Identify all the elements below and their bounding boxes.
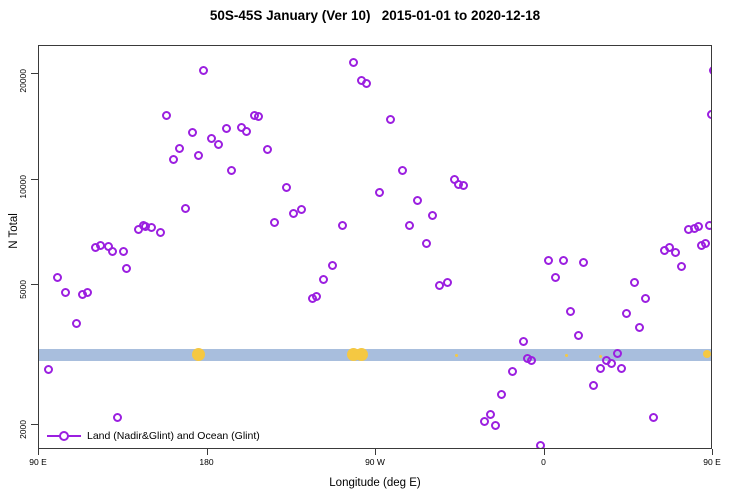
data-point bbox=[270, 218, 279, 227]
x-tick-mark bbox=[712, 449, 713, 455]
y-tick-mark bbox=[31, 284, 38, 285]
data-point bbox=[630, 278, 639, 287]
data-point bbox=[544, 256, 553, 265]
data-point bbox=[53, 273, 62, 282]
y-tick-mark bbox=[31, 179, 38, 180]
data-point bbox=[242, 127, 251, 136]
data-point bbox=[44, 365, 53, 374]
x-tick-mark bbox=[207, 449, 208, 455]
data-point bbox=[108, 247, 117, 256]
data-point bbox=[694, 222, 703, 231]
x-axis-label: Longitude (deg E) bbox=[0, 477, 750, 489]
data-point bbox=[559, 256, 568, 265]
data-point bbox=[169, 155, 178, 164]
data-point bbox=[349, 58, 358, 67]
plot-area: Land (Nadir&Glint) and Ocean (Glint) bbox=[38, 45, 712, 449]
data-point bbox=[519, 337, 528, 346]
y-tick-mark bbox=[31, 424, 38, 425]
data-point bbox=[72, 319, 81, 328]
band-marker bbox=[192, 348, 205, 361]
data-point bbox=[635, 323, 644, 332]
data-point bbox=[607, 359, 616, 368]
data-point bbox=[194, 151, 203, 160]
data-point bbox=[677, 262, 686, 271]
data-point bbox=[214, 140, 223, 149]
data-point bbox=[428, 211, 437, 220]
data-point bbox=[491, 421, 500, 430]
y-axis-label: N Total bbox=[8, 191, 20, 271]
data-point bbox=[338, 221, 347, 230]
scatter-chart-figure: 50S-45S January (Ver 10) 2015-01-01 to 2… bbox=[0, 0, 750, 500]
data-point bbox=[579, 258, 588, 267]
data-point bbox=[497, 390, 506, 399]
data-point bbox=[119, 247, 128, 256]
data-point bbox=[61, 288, 70, 297]
x-tick-label: 90 W bbox=[365, 457, 385, 467]
data-point bbox=[707, 110, 712, 119]
data-point bbox=[641, 294, 650, 303]
data-point bbox=[386, 115, 395, 124]
data-point bbox=[122, 264, 131, 273]
band-marker bbox=[355, 348, 368, 361]
data-point bbox=[671, 248, 680, 257]
data-point bbox=[405, 221, 414, 230]
data-point bbox=[328, 261, 337, 270]
y-tick-mark bbox=[31, 73, 38, 74]
data-point bbox=[199, 66, 208, 75]
x-tick-mark bbox=[38, 449, 39, 455]
data-point bbox=[254, 112, 263, 121]
legend-label: Land (Nadir&Glint) and Ocean (Glint) bbox=[87, 430, 260, 442]
data-point bbox=[574, 331, 583, 340]
x-tick-label: 90 E bbox=[29, 457, 47, 467]
data-point bbox=[443, 278, 452, 287]
data-point bbox=[113, 413, 122, 422]
data-point bbox=[297, 205, 306, 214]
data-point bbox=[162, 111, 171, 120]
data-point bbox=[181, 204, 190, 213]
data-point bbox=[188, 128, 197, 137]
data-point bbox=[589, 381, 598, 390]
data-point bbox=[617, 364, 626, 373]
data-point bbox=[622, 309, 631, 318]
data-point bbox=[413, 196, 422, 205]
data-point bbox=[596, 364, 605, 373]
data-point bbox=[422, 239, 431, 248]
data-point bbox=[312, 292, 321, 301]
data-point bbox=[551, 273, 560, 282]
legend: Land (Nadir&Glint) and Ocean (Glint) bbox=[47, 430, 260, 442]
data-point bbox=[649, 413, 658, 422]
data-point bbox=[319, 275, 328, 284]
data-point bbox=[362, 79, 371, 88]
data-point bbox=[508, 367, 517, 376]
data-point bbox=[227, 166, 236, 175]
band-marker bbox=[455, 354, 458, 357]
data-point bbox=[459, 181, 468, 190]
data-point bbox=[527, 356, 536, 365]
x-tick-label: 90 E bbox=[703, 457, 721, 467]
x-tick-mark bbox=[375, 449, 376, 455]
data-point bbox=[263, 145, 272, 154]
legend-marker-icon bbox=[47, 430, 81, 442]
data-point bbox=[566, 307, 575, 316]
data-point bbox=[282, 183, 291, 192]
data-point bbox=[709, 66, 713, 75]
data-point bbox=[486, 410, 495, 419]
data-point bbox=[375, 188, 384, 197]
data-point bbox=[398, 166, 407, 175]
data-point bbox=[156, 228, 165, 237]
data-point bbox=[83, 288, 92, 297]
chart-title: 50S-45S January (Ver 10) 2015-01-01 to 2… bbox=[0, 8, 750, 23]
x-tick-mark bbox=[544, 449, 545, 455]
data-point bbox=[175, 144, 184, 153]
data-point bbox=[222, 124, 231, 133]
x-tick-label: 0 bbox=[541, 457, 546, 467]
data-point bbox=[701, 239, 710, 248]
data-point bbox=[147, 223, 156, 232]
data-point bbox=[536, 441, 545, 449]
data-point bbox=[613, 349, 622, 358]
data-point bbox=[705, 221, 712, 230]
x-tick-label: 180 bbox=[199, 457, 213, 467]
